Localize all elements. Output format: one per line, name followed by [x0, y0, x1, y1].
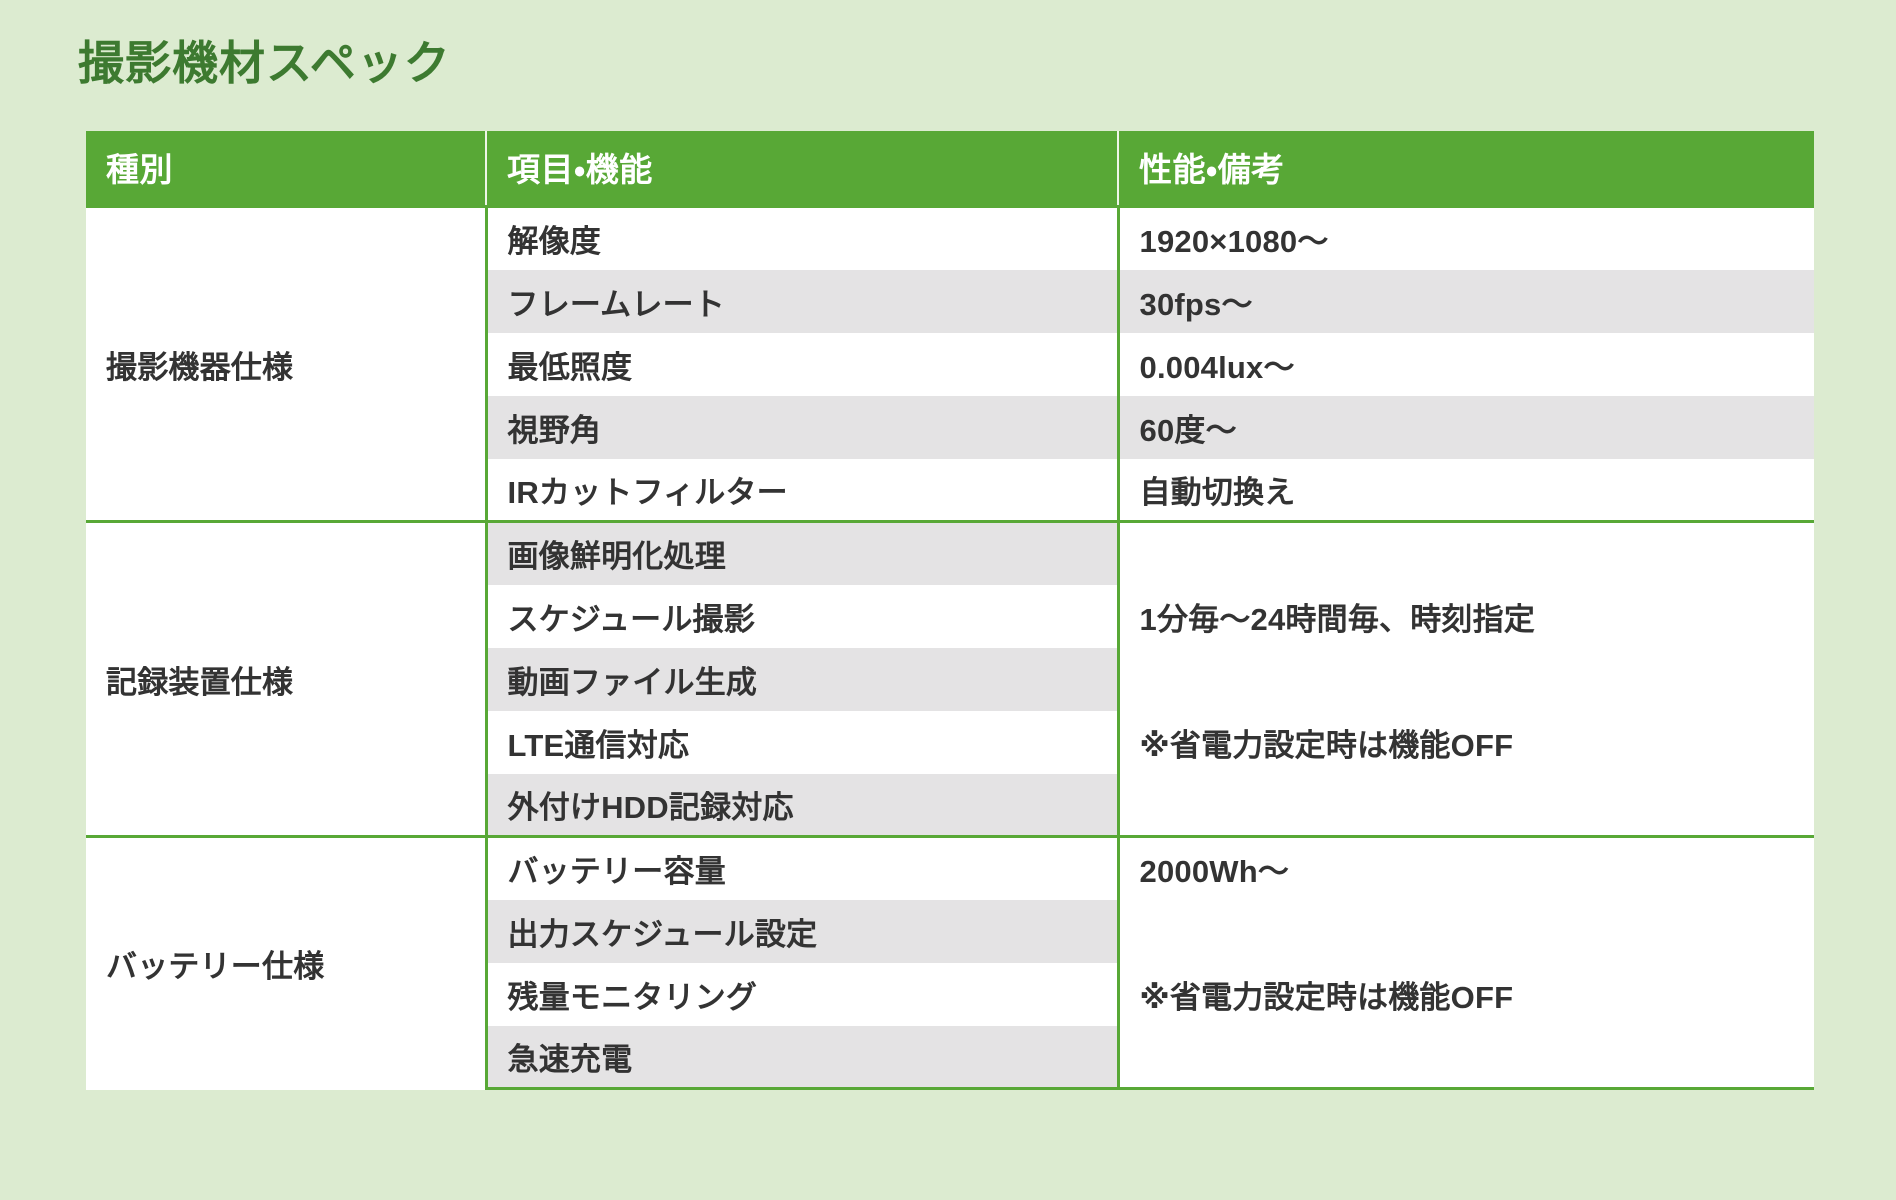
spec-table: 種別 項目・機能 性能・備考 撮影機器仕様解像度1920×1080〜フレームレー…: [86, 131, 1814, 1090]
row-group-label: 記録装置仕様: [86, 522, 486, 837]
table-row: 撮影機器仕様解像度1920×1080〜: [86, 207, 1814, 270]
cell-item: LTE通信対応: [486, 711, 1118, 774]
table-header: 種別 項目・機能 性能・備考: [86, 131, 1814, 207]
row-group-label: バッテリー仕様: [86, 837, 486, 1089]
column-header-kind: 種別: [86, 131, 486, 207]
column-header-performance: 性能・備考: [1118, 131, 1814, 207]
table-body: 撮影機器仕様解像度1920×1080〜フレームレート30fps〜最低照度0.00…: [86, 207, 1814, 1089]
spec-sheet-page: 撮影機材スペック 種別 項目・機能 性能・備考 撮影機器仕様解像度1920×10…: [0, 0, 1896, 1200]
table-row: バッテリー仕様バッテリー容量2000Wh〜: [86, 837, 1814, 900]
row-group-label: 撮影機器仕様: [86, 207, 486, 522]
cell-item: 残量モニタリング: [486, 963, 1118, 1026]
cell-item: 急速充電: [486, 1026, 1118, 1089]
cell-item: フレームレート: [486, 270, 1118, 333]
page-title: 撮影機材スペック: [78, 36, 451, 91]
table-row: 記録装置仕様画像鮮明化処理: [86, 522, 1814, 585]
cell-item: 最低照度: [486, 333, 1118, 396]
cell-item: バッテリー容量: [486, 837, 1118, 900]
cell-performance: 0.004lux〜: [1118, 333, 1814, 396]
cell-performance: ※省電力設定時は機能OFF: [1118, 963, 1814, 1026]
cell-item: IRカットフィルター: [486, 459, 1118, 522]
cell-item: 画像鮮明化処理: [486, 522, 1118, 585]
cell-performance: 2000Wh〜: [1118, 837, 1814, 900]
cell-item: 解像度: [486, 207, 1118, 270]
cell-performance: 60度〜: [1118, 396, 1814, 459]
cell-item: 出力スケジュール設定: [486, 900, 1118, 963]
cell-performance: 自動切換え: [1118, 459, 1814, 522]
cell-performance: 1分毎〜24時間毎、時刻指定: [1118, 585, 1814, 648]
column-header-item: 項目・機能: [486, 131, 1118, 207]
cell-item: 視野角: [486, 396, 1118, 459]
cell-item: 動画ファイル生成: [486, 648, 1118, 711]
cell-item: 外付けHDD記録対応: [486, 774, 1118, 837]
cell-item: スケジュール撮影: [486, 585, 1118, 648]
spec-table-container: 種別 項目・機能 性能・備考 撮影機器仕様解像度1920×1080〜フレームレー…: [86, 131, 1814, 1090]
table-header-row: 種別 項目・機能 性能・備考: [86, 131, 1814, 207]
cell-performance: 30fps〜: [1118, 270, 1814, 333]
cell-performance: ※省電力設定時は機能OFF: [1118, 711, 1814, 774]
cell-performance: 1920×1080〜: [1118, 207, 1814, 270]
